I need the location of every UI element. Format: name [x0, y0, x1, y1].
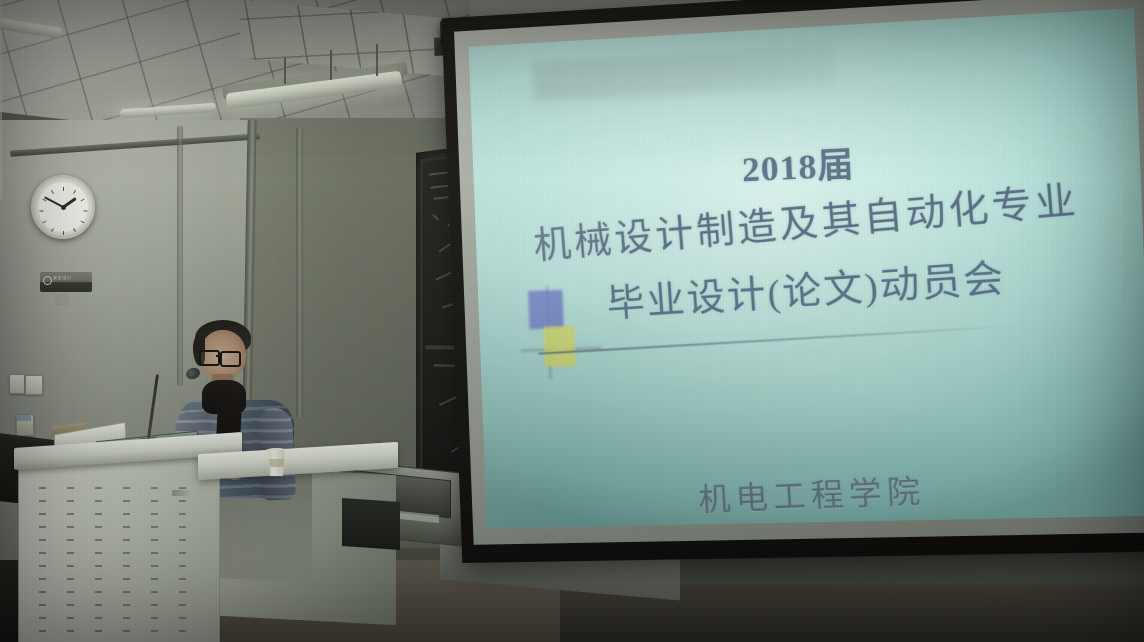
- deco-square-blue: [528, 290, 564, 330]
- clock-tick: [39, 211, 43, 212]
- slide-decoration: [520, 289, 598, 378]
- wall-plaque: 安全出口: [40, 272, 92, 292]
- clock-tick: [73, 190, 76, 194]
- clock-tick: [80, 221, 84, 224]
- clock-tick: [83, 211, 87, 212]
- plaque-label: 安全出口: [53, 275, 71, 281]
- side-desk-opening: [342, 498, 400, 550]
- presenter-glasses-left: [199, 350, 220, 366]
- slide-organization-line: 机电工程学院: [485, 456, 1144, 528]
- podium-brand-badge: [172, 490, 194, 496]
- clock-tick: [63, 231, 64, 235]
- light-switch-right[interactable]: [25, 375, 43, 395]
- projection-screen-border: 2018届 机械设计制造及其自动化专业 毕业设计(论文)动员会 机电工程学院: [454, 0, 1144, 545]
- wall-tag: [55, 294, 69, 306]
- light-hanger-right: [376, 44, 378, 76]
- light-hanger-left: [284, 58, 286, 84]
- presenter-glasses-right: [220, 351, 241, 367]
- projection-screen-surface: 2018届 机械设计制造及其自动化专业 毕业设计(论文)动员会 机电工程学院: [469, 8, 1144, 529]
- light-hanger-mid: [330, 50, 332, 80]
- clock-tick: [42, 221, 46, 224]
- clock-tick: [63, 187, 64, 191]
- projection-screen-assembly: MITSUBISHI 2018届 机械设计制造及其自动化专业 毕业设计(论文)动…: [448, 0, 1144, 574]
- podium-body: [18, 450, 220, 642]
- wall-pipe-second: [296, 128, 303, 418]
- podium-vent-area: [33, 487, 207, 642]
- wall-clock: [31, 175, 95, 239]
- clock-face: [38, 182, 88, 232]
- classroom-photo: 安全出口: [0, 0, 1144, 642]
- socket-faceplate: [17, 415, 31, 421]
- presenter-glasses-bridge: [216, 355, 221, 357]
- wall-conduit-thin: [0, 0, 2, 200]
- clock-tick: [73, 228, 76, 232]
- deco-square-yellow: [544, 326, 576, 367]
- clock-tick: [51, 190, 54, 194]
- presentation-slide: 2018届 机械设计制造及其自动化专业 毕业设计(论文)动员会 机电工程学院: [469, 8, 1144, 529]
- light-switch-left[interactable]: [9, 374, 25, 394]
- cup-band: [268, 459, 285, 467]
- slide-divider-rule: [539, 325, 1011, 354]
- clock-tick: [51, 228, 54, 232]
- plaque-emblem-icon: [43, 276, 52, 285]
- clock-tick: [80, 199, 84, 202]
- projection-screen-frame: 2018届 机械设计制造及其自动化专业 毕业设计(论文)动员会 机电工程学院: [442, 0, 1144, 563]
- clock-center-pin: [61, 205, 66, 210]
